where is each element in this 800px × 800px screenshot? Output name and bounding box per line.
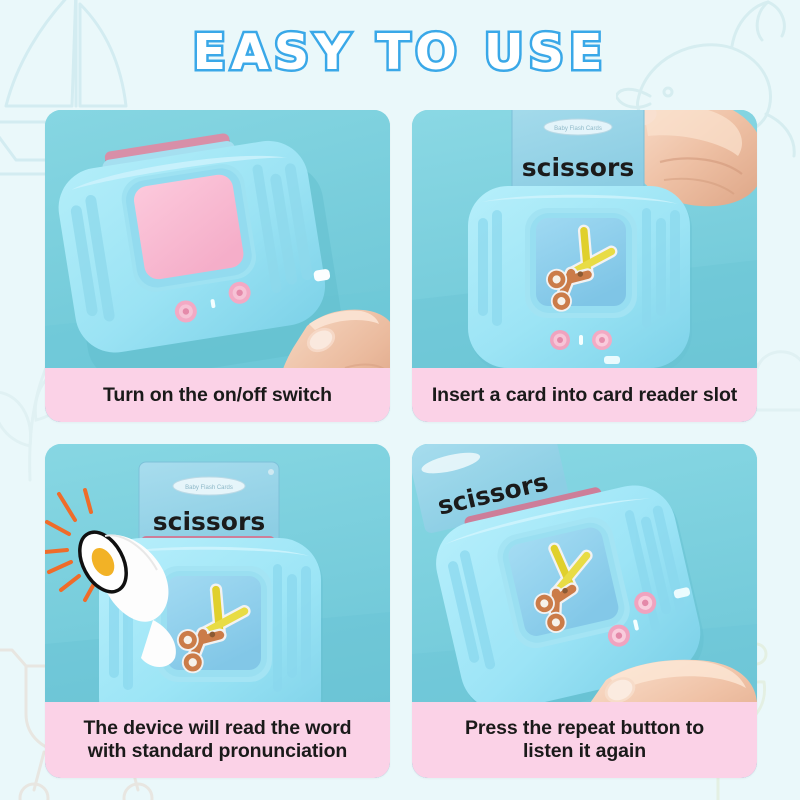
- step-caption-3-line1: The device will read the word: [83, 717, 351, 740]
- title-glyphs: EASY TO USE: [193, 24, 608, 81]
- page-title-text: EASY TO USE: [180, 17, 620, 89]
- step-caption-3-line2: with standard pronunciation: [83, 740, 351, 763]
- step-caption-3: The device will read the word with stand…: [45, 702, 390, 778]
- word-card: Baby Flash Cards scissors: [512, 110, 644, 198]
- card-badge-text: Baby Flash Cards: [554, 126, 602, 132]
- step-caption-4-line1: Press the repeat button to: [465, 717, 704, 740]
- easy-to-use-infographic: EASY TO USE: [0, 0, 800, 800]
- step-caption-2: Insert a card into card reader slot: [412, 368, 757, 422]
- card-word-text: scissors: [522, 153, 634, 182]
- device: [468, 186, 692, 374]
- step-panel-4[interactable]: scissors: [412, 444, 757, 778]
- step-panel-2[interactable]: Baby Flash Cards scissors: [412, 110, 757, 422]
- card-badge-text: Baby Flash Cards: [185, 485, 233, 491]
- page-title: EASY TO USE: [0, 14, 800, 92]
- card-word-text: scissors: [153, 507, 265, 536]
- step-caption-2-text: Insert a card into card reader slot: [432, 384, 737, 407]
- step-panel-1[interactable]: Turn on the on/off switch: [45, 110, 390, 422]
- step-caption-1: Turn on the on/off switch: [45, 368, 390, 422]
- steps-grid: Turn on the on/off switch: [45, 110, 757, 778]
- step-caption-1-text: Turn on the on/off switch: [103, 384, 332, 407]
- step-caption-4-line2: listen it again: [465, 740, 704, 763]
- word-card: Baby Flash Cards scissors: [139, 462, 279, 548]
- step-caption-4: Press the repeat button to listen it aga…: [412, 702, 757, 778]
- step-panel-3[interactable]: Baby Flash Cards scissors: [45, 444, 390, 778]
